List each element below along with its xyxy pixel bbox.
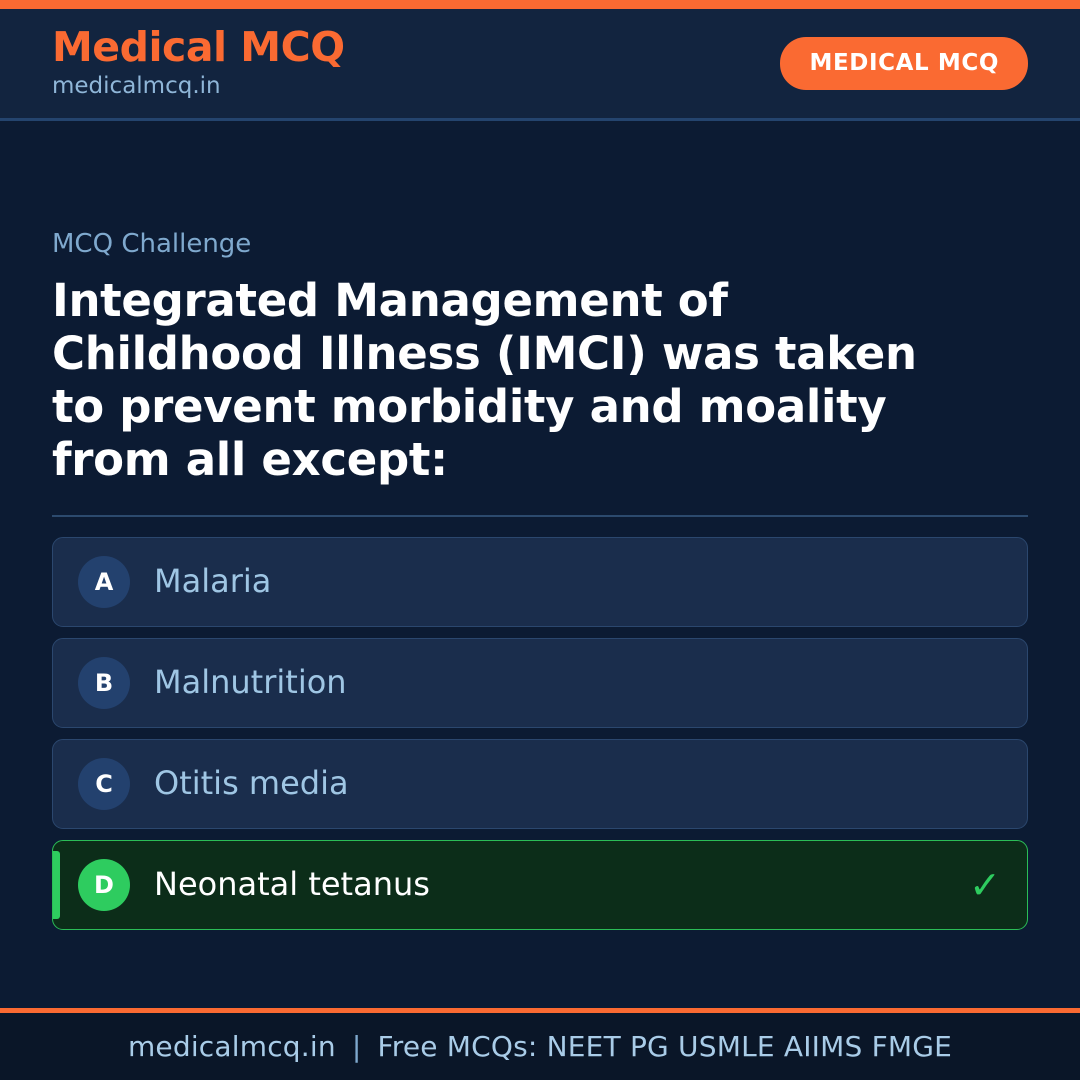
option-letter-badge: D	[78, 859, 130, 911]
option-label: Malaria	[154, 562, 969, 600]
footer-separator: |	[336, 1030, 378, 1063]
option-letter-badge: A	[78, 556, 130, 608]
brand-title: Medical MCQ	[52, 26, 345, 69]
question-area: MCQ Challenge Integrated Management of C…	[0, 121, 1080, 1008]
option-a[interactable]: A Malaria ✓	[52, 537, 1028, 627]
question-text: Integrated Management of Childhood Illne…	[52, 274, 982, 486]
top-accent-bar	[0, 0, 1080, 9]
mcq-card: Medical MCQ medicalmcq.in MEDICAL MCQ MC…	[0, 0, 1080, 1080]
option-c[interactable]: C Otitis media ✓	[52, 739, 1028, 829]
footer-links: Free MCQs: NEET PG USMLE AIIMS FMGE	[377, 1030, 952, 1063]
check-icon: ✓	[969, 866, 1001, 904]
option-letter-badge: B	[78, 657, 130, 709]
options-list: A Malaria ✓ B Malnutrition ✓ C Otitis me…	[52, 537, 1028, 930]
option-label: Malnutrition	[154, 663, 969, 701]
header-badge-pill: MEDICAL MCQ	[780, 37, 1028, 90]
header: Medical MCQ medicalmcq.in MEDICAL MCQ	[0, 9, 1080, 121]
option-b[interactable]: B Malnutrition ✓	[52, 638, 1028, 728]
brand-block: Medical MCQ medicalmcq.in	[52, 26, 345, 102]
correct-accent-bar	[53, 851, 60, 919]
option-letter-badge: C	[78, 758, 130, 810]
kicker-label: MCQ Challenge	[52, 229, 1028, 260]
footer-site: medicalmcq.in	[128, 1030, 336, 1063]
section-divider	[52, 515, 1028, 517]
footer: medicalmcq.in|Free MCQs: NEET PG USMLE A…	[0, 1008, 1080, 1080]
footer-text: medicalmcq.in|Free MCQs: NEET PG USMLE A…	[128, 1030, 952, 1063]
brand-subtitle: medicalmcq.in	[52, 72, 345, 102]
option-label: Otitis media	[154, 764, 969, 802]
option-label: Neonatal tetanus	[154, 865, 969, 903]
option-d[interactable]: D Neonatal tetanus ✓	[52, 840, 1028, 930]
